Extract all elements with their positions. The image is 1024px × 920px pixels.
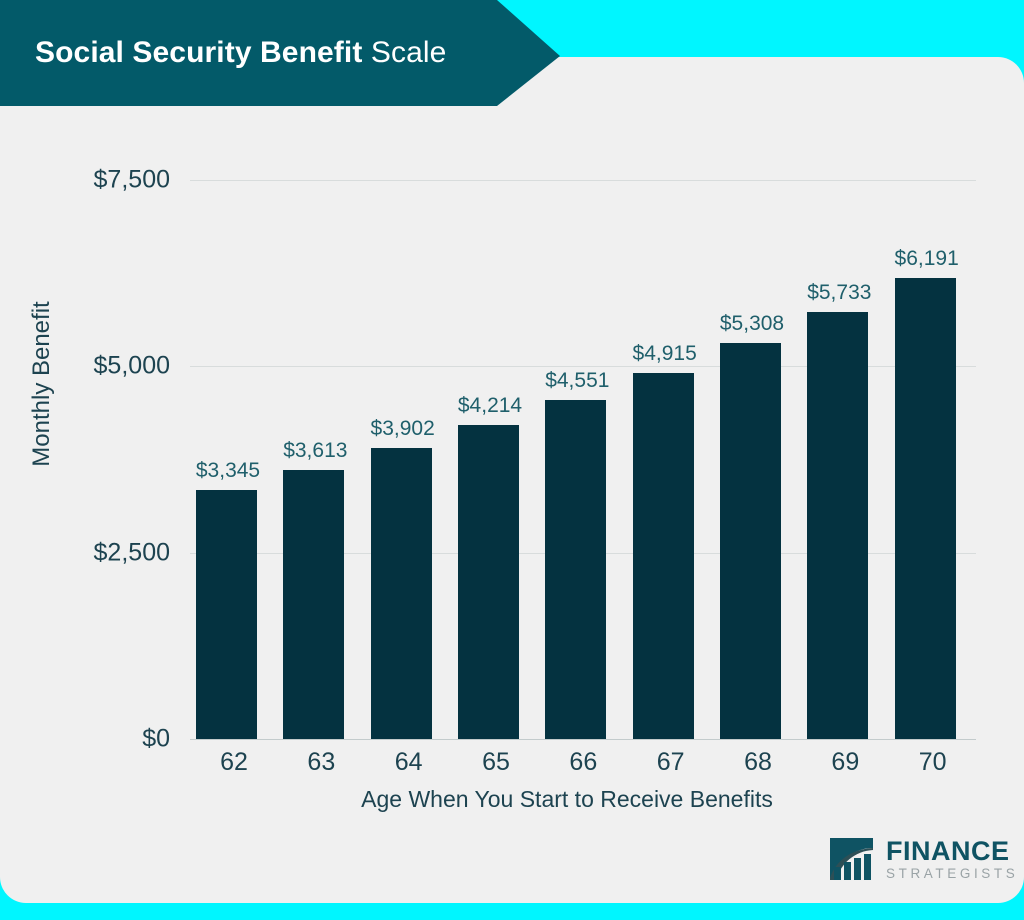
x-tick-label: 62 [190,748,278,777]
x-tick-label: 63 [277,748,365,777]
x-axis-title: Age When You Start to Receive Benefits [0,786,1024,813]
bar-value-label: $3,345 [178,459,278,483]
bar[interactable] [371,448,432,739]
bar[interactable] [196,490,257,739]
bar-value-label: $4,551 [527,369,627,393]
x-tick-label: 69 [801,748,889,777]
page-title-light: Scale [362,36,446,69]
bar[interactable] [458,425,519,739]
bar[interactable] [545,400,606,739]
bar-series: $3,345$3,613$3,902$4,214$4,551$4,915$5,3… [190,180,976,739]
x-tick-label: 68 [714,748,802,777]
bar-slot: $4,915 [627,180,715,739]
bar-slot: $6,191 [889,180,977,739]
bar-slot: $4,551 [539,180,627,739]
finance-strategists-mark-icon [828,836,875,882]
bar[interactable] [283,470,344,739]
chart-page: Social Security Benefit Scale Monthly Be… [0,0,1024,920]
bar-value-label: $6,191 [877,247,977,271]
bar[interactable] [633,373,694,739]
y-tick-label: $0 [50,725,170,754]
x-tick-label: 66 [539,748,627,777]
bar-slot: $3,902 [365,180,453,739]
bar-value-label: $3,613 [265,439,365,463]
bar[interactable] [720,343,781,739]
page-title-bold: Social Security Benefit [35,36,362,69]
y-tick-label: $5,000 [50,352,170,381]
bar[interactable] [807,312,868,739]
brand-logo: FINANCE STRATEGISTS [828,836,1018,882]
y-tick-label: $7,500 [50,166,170,195]
bar-slot: $4,214 [452,180,540,739]
x-tick-label: 70 [889,748,977,777]
bar-slot: $5,308 [714,180,802,739]
x-tick-label: 65 [452,748,540,777]
x-tick-label: 67 [627,748,715,777]
bar-value-label: $3,902 [353,417,453,441]
logo-sub: STRATEGISTS [886,867,1018,881]
gridline-0 [190,739,976,740]
bar-value-label: $4,214 [440,394,540,418]
logo-text: FINANCE STRATEGISTS [886,838,1018,881]
page-title: Social Security Benefit Scale [35,36,446,70]
y-axis-tick-labels: $0$2,500$5,000$7,500 [50,180,170,739]
y-tick-label: $2,500 [50,538,170,567]
title-banner: Social Security Benefit Scale [0,0,560,106]
bar-slot: $3,613 [277,180,365,739]
x-axis-tick-labels: 626364656667686970 [190,748,976,788]
x-tick-label: 64 [365,748,453,777]
logo-word: FINANCE [886,838,1018,865]
bar[interactable] [895,278,956,739]
bar-value-label: $5,733 [789,281,889,305]
bar-value-label: $4,915 [615,342,715,366]
bar-value-label: $5,308 [702,312,802,336]
